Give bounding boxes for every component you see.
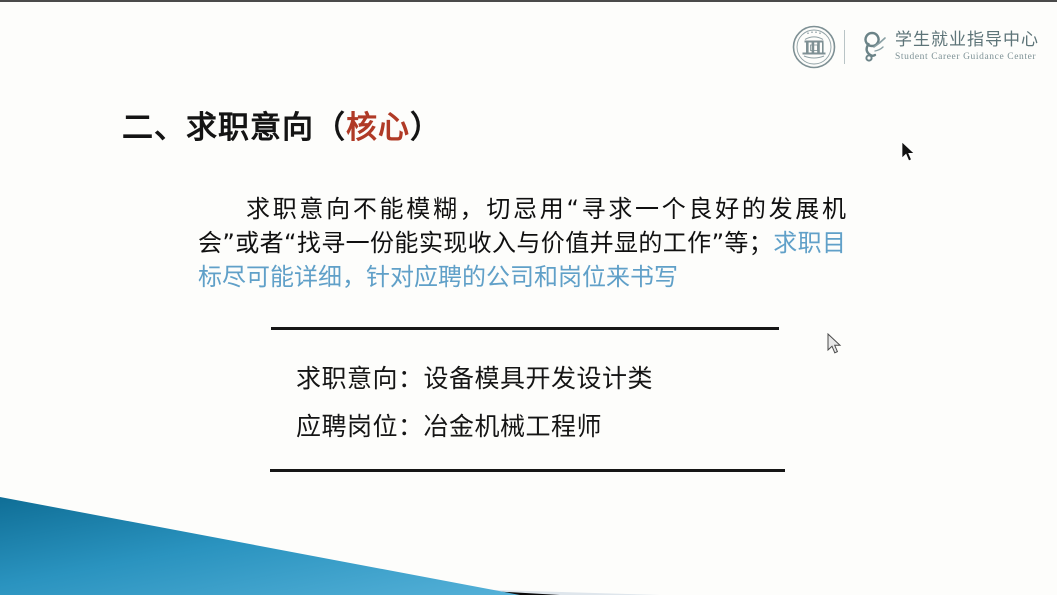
slide-body-paragraph: 求职意向不能模糊，切忌用“寻求一个良好的发展机会”或者“找寻一份能实现收入与价值… [198,192,846,294]
ribbon-figure-icon [855,27,889,67]
decor-gray-band [0,575,660,595]
body-text-plain: 求职意向不能模糊，切忌用“寻求一个良好的发展机会”或者“找寻一份能实现收入与价值… [198,195,846,257]
slide-title-suffix: ） [410,110,442,146]
slide-title-accent: 核心 [346,110,410,146]
mouse-pointer-light [827,333,843,355]
mouse-pointer-dark [901,141,917,163]
organization-logo: 学生就业指导中心 Student Career Guidance Center [792,22,1022,72]
divider-rule-bottom [270,469,785,472]
university-seal-icon [792,25,836,69]
divider-rule-top [271,327,779,330]
presentation-slide: 学生就业指导中心 Student Career Guidance Center … [0,0,1057,595]
logo-name-en: Student Career Guidance Center [895,53,1039,63]
logo-divider [844,30,845,64]
decorative-diagonal-banner [0,475,700,595]
example-job-objective: 求职意向：设备模具开发设计类 [296,359,653,395]
logo-text-block: 学生就业指导中心 Student Career Guidance Center [895,32,1039,63]
example-applied-position: 应聘岗位：冶金机械工程师 [296,407,602,443]
decor-black-band [0,563,560,595]
slide-title: 二、求职意向（核心） [122,102,442,147]
logo-name-cn: 学生就业指导中心 [895,32,1039,49]
decor-blue-band [0,497,520,595]
slide-title-prefix: 二、求职意向（ [122,110,346,146]
